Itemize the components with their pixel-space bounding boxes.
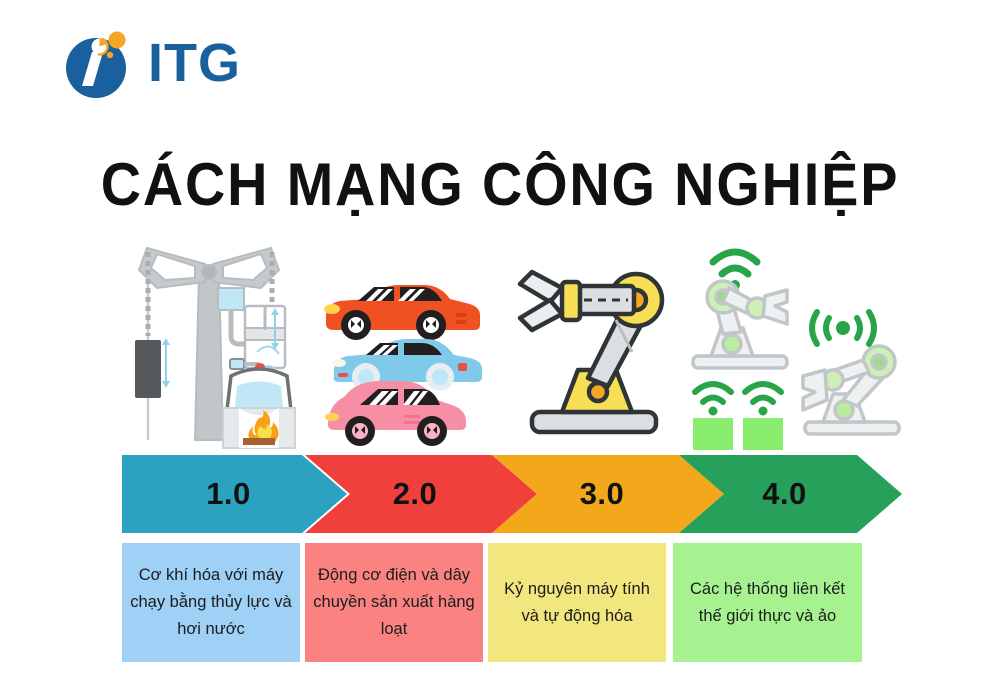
stage-chevron-band: 1.0 2.0 3.0 4.0 [122, 455, 902, 533]
robot-arm-icon [502, 238, 687, 450]
stage-caption-4: Các hệ thống liên kết thế giới thực và ả… [673, 543, 862, 662]
steam-engine-icon [122, 238, 307, 450]
brand-name: ITG [148, 36, 241, 90]
stage-caption-row: Cơ khí hóa với máy chạy bằng thủy lực và… [122, 543, 862, 662]
stage-caption-text-4: Các hệ thống liên kết thế giới thực và ả… [679, 576, 856, 629]
brand-logo[interactable]: ITG [62, 24, 292, 102]
stage-caption-text-2: Động cơ điện và dây chuyền sản xuất hàng… [311, 562, 477, 642]
infographic-canvas: ITG CÁCH MẠNG CÔNG NGHIỆP [0, 0, 1000, 700]
stage-number-2: 2.0 [393, 476, 438, 512]
stage-number-4: 4.0 [762, 476, 807, 512]
stage-caption-text-1: Cơ khí hóa với máy chạy bằng thủy lực và… [128, 562, 294, 642]
stage-caption-3: Kỷ nguyên máy tính và tự động hóa [488, 543, 666, 662]
illustration-row [122, 238, 902, 450]
itg-circle-i-logo-icon [62, 26, 136, 100]
stage-number-3: 3.0 [580, 476, 625, 512]
stage-chevron-1[interactable]: 1.0 [122, 455, 347, 533]
cars-assembly-icon [308, 238, 493, 450]
stage-caption-1: Cơ khí hóa với máy chạy bằng thủy lực và… [122, 543, 300, 662]
stage-caption-2: Động cơ điện và dây chuyền sản xuất hàng… [305, 543, 483, 662]
iot-robots-icon [682, 238, 902, 450]
stage-number-1: 1.0 [206, 476, 251, 512]
stage-caption-text-3: Kỷ nguyên máy tính và tự động hóa [494, 576, 660, 629]
page-title: CÁCH MẠNG CÔNG NGHIỆP [35, 150, 965, 219]
